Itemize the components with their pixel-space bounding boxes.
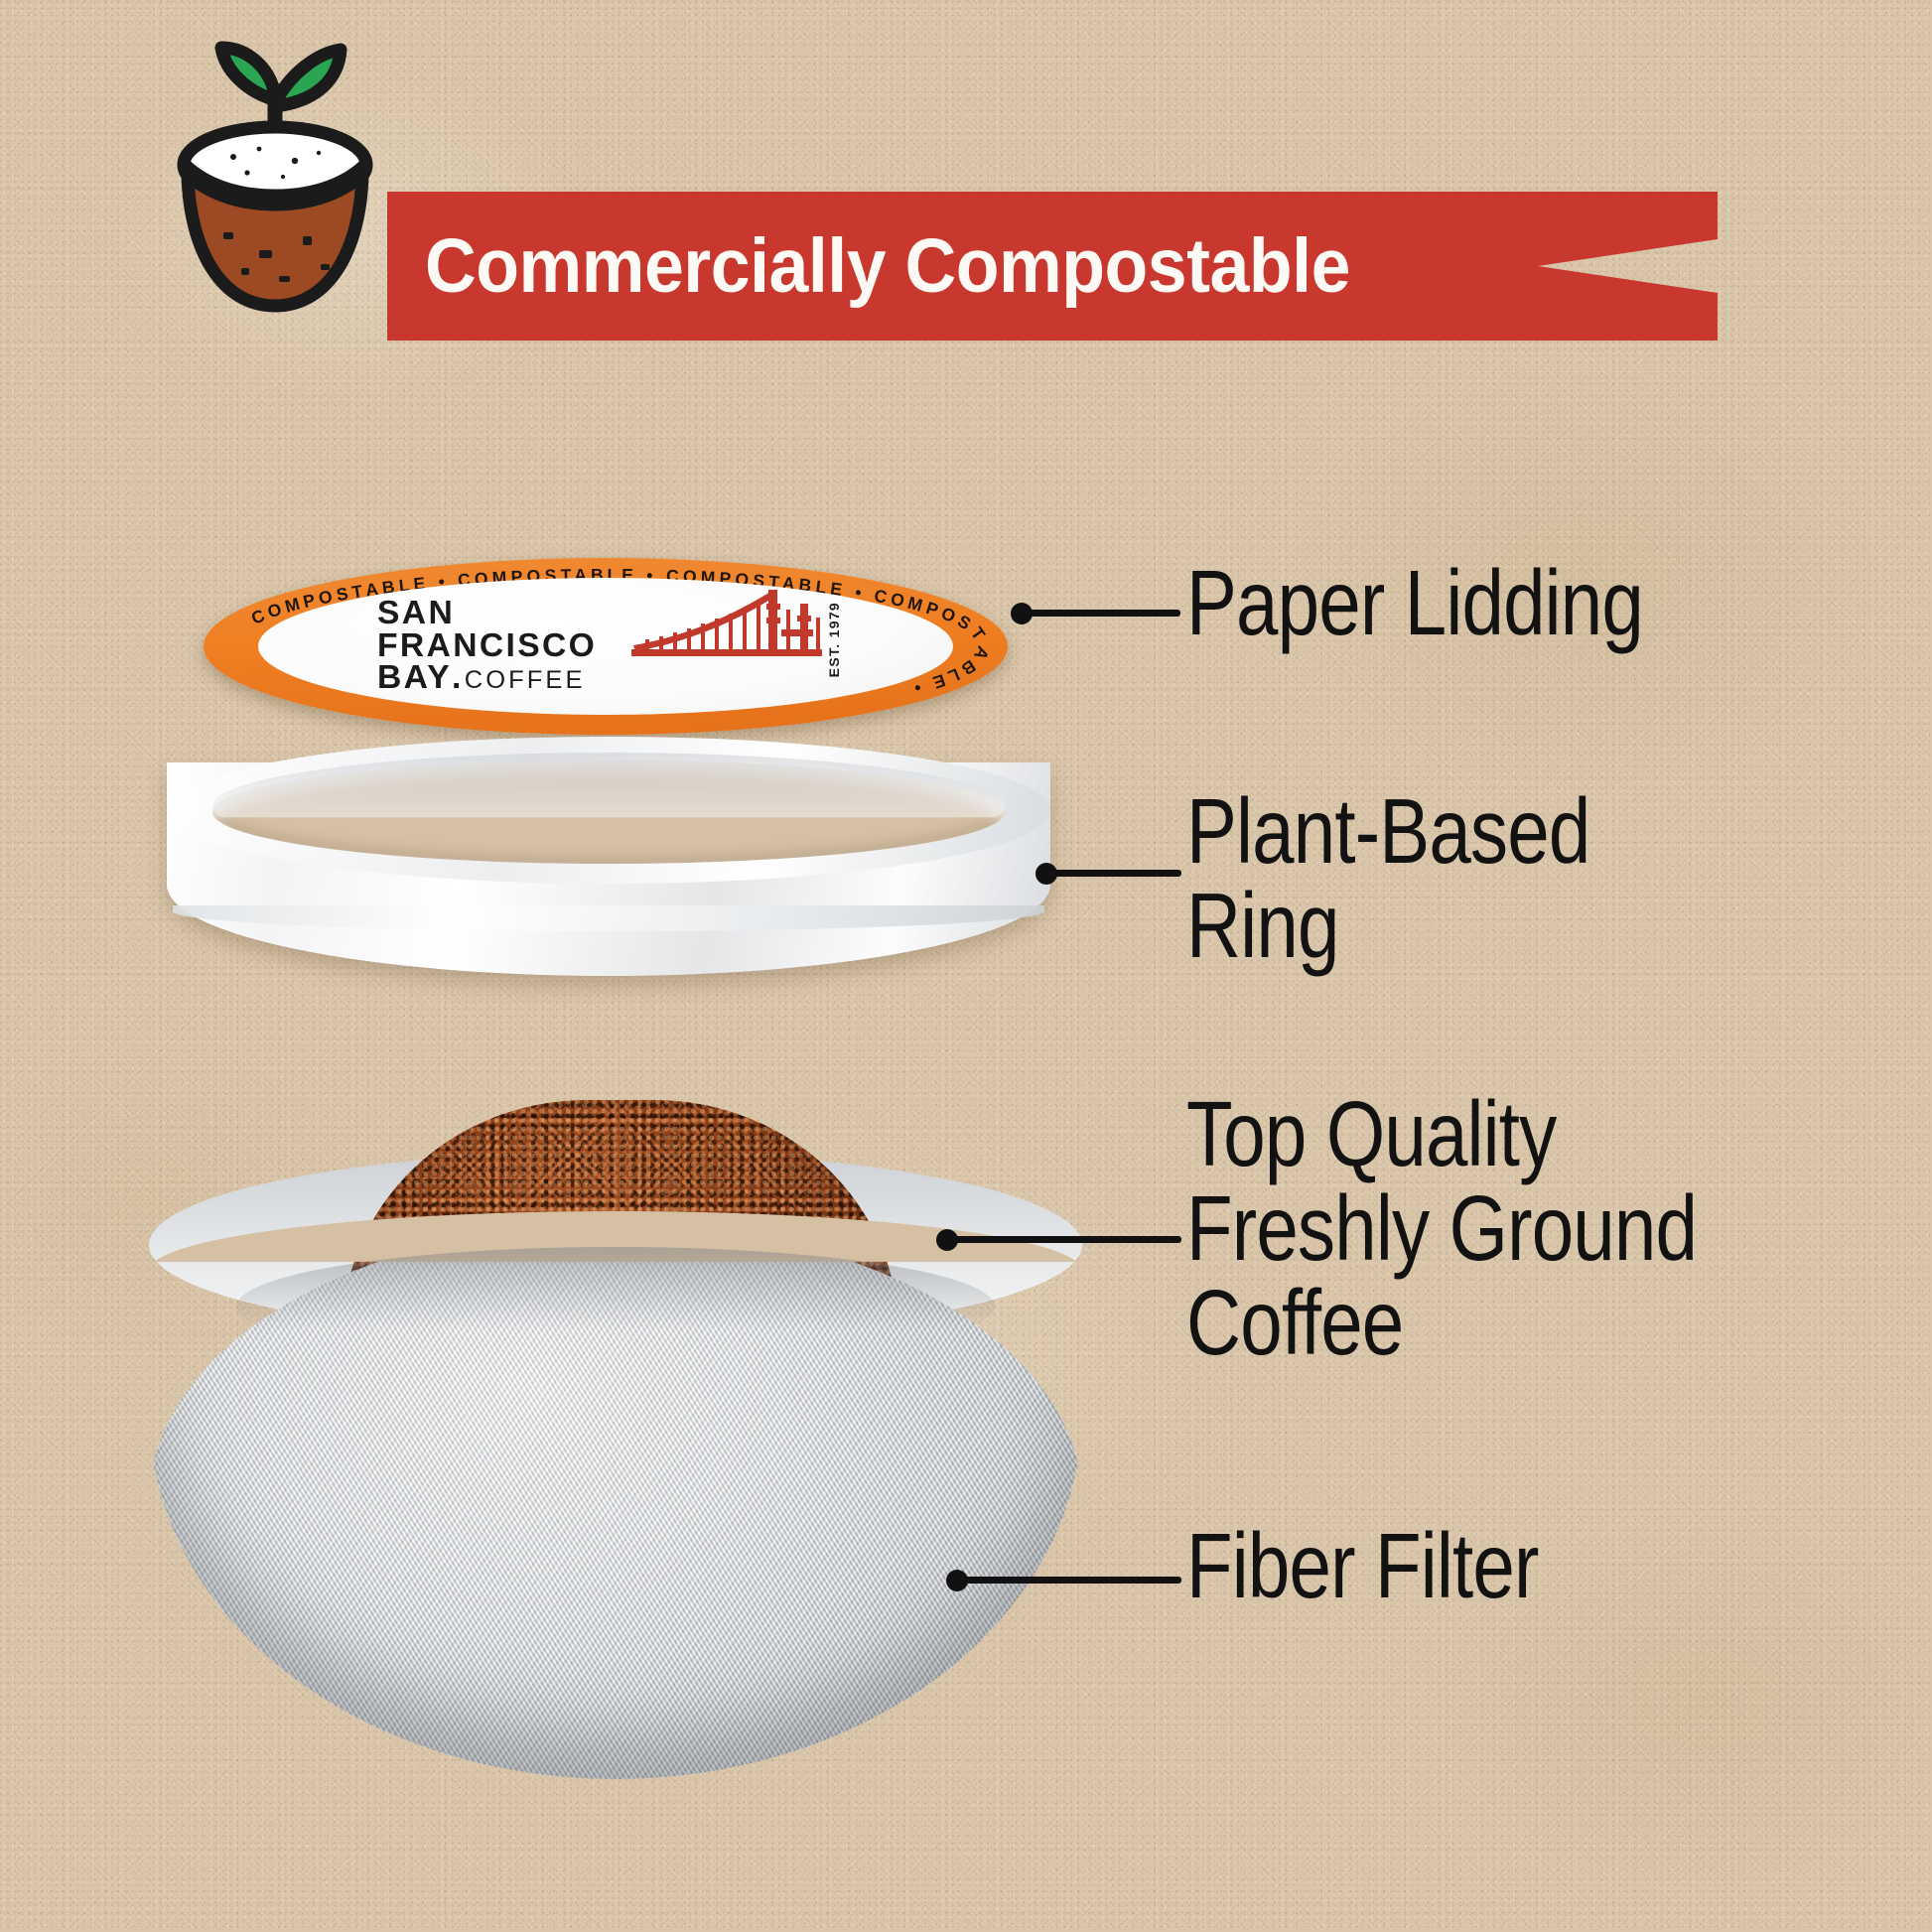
plant-based-ring — [167, 737, 1050, 1000]
brand-established-text: EST. 1979 — [826, 602, 842, 677]
callout-label-top-quality-coffee: Top Quality Freshly Ground Coffee — [1186, 1087, 1697, 1370]
brand-wordmark: SAN FRANCISCO BAY . COFFEE — [377, 598, 597, 693]
leader-line-plant-based-ring — [1044, 870, 1181, 877]
paper-lid: COMPOSTABLE • COMPOSTABLE • COMPOSTABLE … — [204, 558, 1008, 735]
brand-coffee-text: COFFEE — [465, 669, 586, 692]
leader-line-coffee — [945, 1236, 1181, 1243]
callout-label-plant-based-ring: Plant-Based Ring — [1186, 784, 1589, 973]
brand-bay-text: BAY — [377, 662, 452, 693]
leader-line-paper-lidding — [1020, 610, 1180, 617]
brand-dot: . — [452, 662, 464, 693]
ring-inner-wall — [212, 753, 1005, 860]
compostable-banner: Commercially Compostable — [387, 192, 1718, 341]
golden-gate-bridge-icon — [631, 588, 822, 665]
sprouting-pot-icon — [164, 38, 387, 316]
sprouting-pot-svg — [164, 38, 387, 316]
brand-line-bay: BAY . COFFEE — [377, 662, 597, 693]
brand-line-francisco: FRANCISCO — [377, 630, 597, 661]
callout-label-paper-lidding: Paper Lidding — [1186, 556, 1643, 650]
callout-label-fiber-filter: Fiber Filter — [1186, 1519, 1539, 1613]
brand-line-san: SAN — [377, 598, 597, 628]
pod-interior-shadow — [236, 1247, 995, 1366]
sfbay-brand-logo: EST. 1979 SAN FRANCISCO BAY . COFFEE — [377, 598, 844, 702]
leader-line-fiber-filter — [955, 1577, 1181, 1584]
infographic-canvas: Commercially Compostable COMPOSTABLE • C… — [0, 0, 1932, 1932]
banner-title: Commercially Compostable — [425, 228, 1350, 305]
